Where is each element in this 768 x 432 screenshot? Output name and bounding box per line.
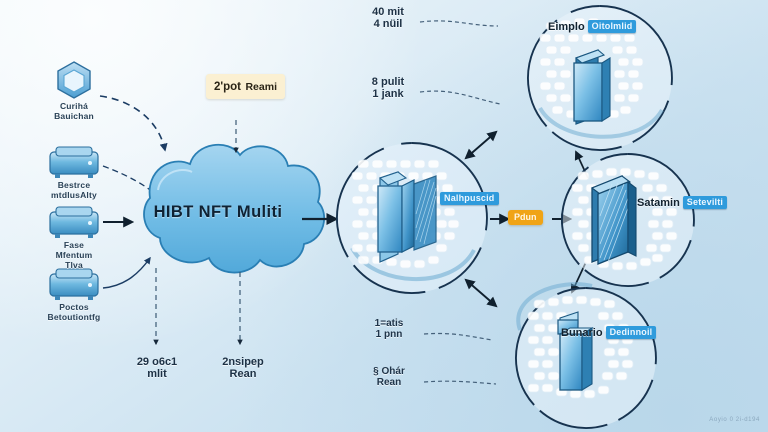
pillar-icon <box>558 312 592 390</box>
badge-center: Nalhpuscid <box>440 192 499 205</box>
circle-title-center: Nalhpuscid <box>440 192 499 205</box>
badge-orange-mid: Pdun <box>508 210 543 225</box>
annotation-top-mid-b: 8 pulit 1 jank <box>352 76 424 100</box>
annotation-bot-mid-b: § Ohár Rean <box>354 366 424 388</box>
leader-top-mid-b <box>420 91 500 104</box>
node-label-blockchain: Curihá Bauichan <box>26 101 122 121</box>
node-label-poctos: Poctos Betoutiontfg <box>26 302 122 322</box>
badge-mid-right: Setevilti <box>683 196 727 209</box>
connector-right-to-topright <box>576 152 588 178</box>
badge-bottom-right: Dedinnoil <box>606 326 657 339</box>
circle-name-bottom-right: Bunario <box>561 327 603 339</box>
hexagon-icon <box>58 62 90 98</box>
callout-top-left: 2'pot Reami <box>206 74 285 99</box>
brick-texture-center <box>352 160 459 268</box>
server-icon-3 <box>50 269 98 300</box>
watermark: Aoyio 0 2i-d194 <box>709 417 760 423</box>
connector-right-to-bottomright <box>572 262 586 292</box>
connector-center-topright <box>466 132 496 158</box>
server-icon-1 <box>50 147 98 178</box>
leader-top-mid-a <box>420 21 498 26</box>
stacked-panels-icon <box>378 172 436 262</box>
panel-icon <box>574 50 610 124</box>
server-icon-2 <box>50 207 98 238</box>
circle-node-center <box>337 143 487 293</box>
node-label-fase: Fase Mfentum Tlva <box>26 240 122 270</box>
annotation-bottom-left: 29 o6c1 mlit <box>118 356 196 380</box>
leader-bot-mid-b <box>424 381 496 384</box>
circle-node-bottom-right <box>516 284 656 428</box>
circle-title-bottom-right: Bunario Dedinnoil <box>561 326 656 339</box>
circle-name-mid-right: Satamin <box>637 197 680 209</box>
diagram-canvas: Curihá Bauichan Bestrce mtdlusAlty Fase … <box>0 0 768 432</box>
annotation-top-mid-a: 40 mit 4 nüil <box>352 6 424 30</box>
page-title: HIBT NFT Muliti <box>128 203 308 222</box>
annotation-bot-mid-a: 1=atis 1 pnn <box>354 318 424 340</box>
circle-node-mid-right <box>562 154 694 286</box>
annotation-bottom-mid: 2nsipep Rean <box>204 356 282 380</box>
leader-bot-mid-a <box>424 333 492 340</box>
connector-center-bottomright <box>466 280 496 306</box>
panel-hatched-icon <box>592 176 636 264</box>
badge-top-right: Oitolmlid <box>588 20 637 33</box>
circle-title-mid-right: Satamin Setevilti <box>637 196 727 209</box>
circle-title-top-right: Eimplo Oitolmlid <box>548 20 636 33</box>
circle-name-top-right: Eimplo <box>548 21 585 33</box>
node-label-bestrce: Bestrce mtdlusAlty <box>26 180 122 200</box>
